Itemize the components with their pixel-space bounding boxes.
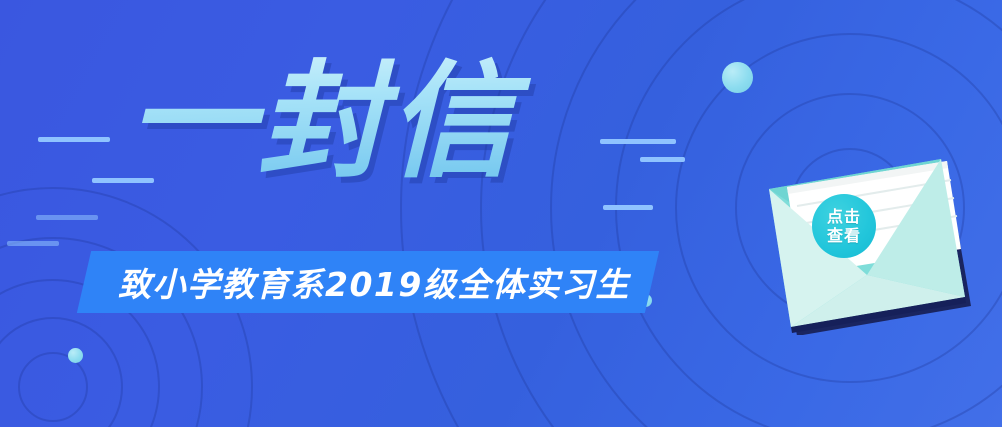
decor-ring-left-1 bbox=[18, 352, 88, 422]
decor-dot-1 bbox=[722, 62, 753, 93]
decor-dash-3 bbox=[600, 139, 676, 144]
decor-dash-5 bbox=[603, 205, 653, 210]
subtitle-text: 致小学教育系2019级全体实习生 bbox=[118, 251, 678, 313]
decor-ring-left-2 bbox=[0, 317, 123, 427]
letter-announcement-banner: 一封信 致小学教育系2019级全体实习生 bbox=[0, 0, 1002, 427]
badge-line-1: 点击 bbox=[827, 207, 861, 226]
decor-dash-7 bbox=[7, 241, 59, 246]
main-title-text: 一封信 bbox=[128, 52, 598, 192]
badge-line-2: 查看 bbox=[827, 226, 861, 245]
decor-dash-4 bbox=[640, 157, 685, 162]
decor-dash-6 bbox=[36, 215, 98, 220]
click-to-view-badge[interactable]: 点击 查看 bbox=[812, 194, 876, 258]
page-title: 一封信 bbox=[128, 52, 598, 197]
decor-dot-2 bbox=[68, 348, 83, 363]
decor-dash-1 bbox=[38, 137, 110, 142]
